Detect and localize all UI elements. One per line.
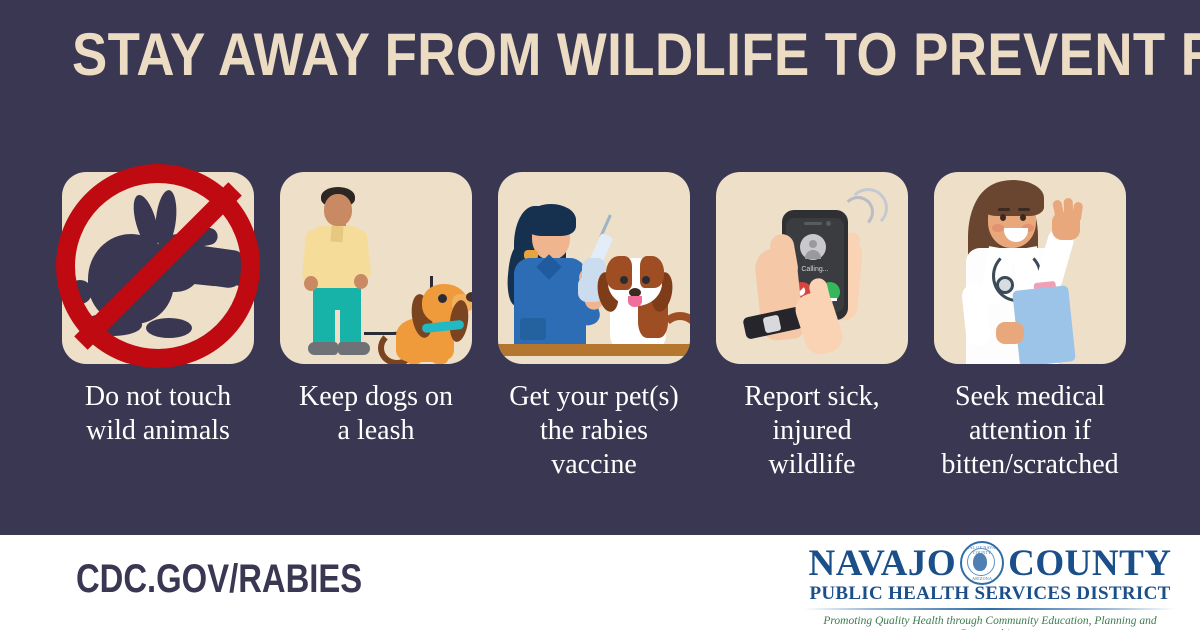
cdc-rabies-url[interactable]: CDC.GOV/RABIES <box>76 557 362 602</box>
logo-word-navajo: NAVAJO <box>809 545 957 582</box>
caption-line: injured <box>700 414 924 448</box>
prevention-steps-row: Calling... <box>0 172 1200 372</box>
logo-tagline: Promoting Quality Health through Communi… <box>800 615 1180 630</box>
caption-line: a leash <box>264 414 488 448</box>
man-walking-dog-on-leash-icon <box>280 172 472 364</box>
doctor-waving-hand <box>1052 212 1080 240</box>
man-shoe-right <box>338 342 370 355</box>
rabies-prevention-poster: STAY AWAY FROM WILDLIFE TO PREVENT RABIE… <box>0 0 1200 630</box>
phone-speaker <box>804 222 822 225</box>
step-card-seek-medical-attention <box>934 172 1126 364</box>
man-collar <box>330 226 343 243</box>
doctor-hand-holding-clipboard <box>996 322 1024 344</box>
exam-table <box>498 344 690 356</box>
veterinarian-vaccinating-dog-icon <box>498 172 690 364</box>
doctor-eye-right <box>1020 214 1026 221</box>
caption-keep-dogs-leashed: Keep dogs on a leash <box>264 380 488 448</box>
doctor-waving-with-clipboard-icon <box>934 172 1126 364</box>
doctor-cheek-left <box>992 224 1004 232</box>
caption-line: bitten/scratched <box>918 448 1142 482</box>
man-shoe-left <box>308 342 338 355</box>
step-card-rabies-vaccine <box>498 172 690 364</box>
doctor-hair-top <box>982 180 1044 216</box>
caption-do-not-touch: Do not touch wild animals <box>46 380 270 448</box>
logo-subtitle: PUBLIC HEALTH SERVICES DISTRICT <box>800 583 1180 605</box>
caption-line: Keep dogs on <box>264 380 488 414</box>
man-hand-left <box>304 276 318 291</box>
caption-line: wildlife <box>700 448 924 482</box>
prohibition-sign-icon <box>56 164 260 368</box>
puppy-eye-left <box>620 276 628 284</box>
puppy-tongue <box>628 296 642 307</box>
phone-camera <box>826 221 831 226</box>
caption-line: the rabies <box>482 414 706 448</box>
caption-line: Report sick, <box>700 380 924 414</box>
county-seal-icon: SEAL OF NAVAJO COUNTY ARIZONA <box>960 541 1004 585</box>
doctor-eye-left <box>1000 214 1006 221</box>
logo-wordmark: NAVAJO SEAL OF NAVAJO COUNTY ARIZONA COU… <box>800 543 1180 583</box>
logo-divider <box>804 608 1176 610</box>
logo-word-county: COUNTY <box>1008 545 1171 582</box>
step-card-do-not-touch <box>62 172 254 364</box>
vet-hair-top <box>526 204 576 236</box>
wristwatch-face <box>763 315 782 334</box>
dog-nose <box>466 292 472 302</box>
seal-bottom-text: ARIZONA <box>962 576 1002 581</box>
navajo-county-logo: NAVAJO SEAL OF NAVAJO COUNTY ARIZONA COU… <box>800 543 1180 625</box>
step-card-report-wildlife: Calling... <box>716 172 908 364</box>
caption-line: vaccine <box>482 448 706 482</box>
caption-line: attention if <box>918 414 1142 448</box>
caption-line: wild animals <box>46 414 270 448</box>
doctor-eyebrow-left <box>998 208 1010 211</box>
dog-leg-right <box>432 350 448 364</box>
vet-pocket <box>520 318 546 340</box>
caption-rabies-vaccine: Get your pet(s) the rabies vaccine <box>482 380 706 482</box>
hands-calling-on-phone-icon: Calling... <box>716 172 908 364</box>
doctor-eyebrow-right <box>1018 208 1030 211</box>
footer-bar: CDC.GOV/RABIES NAVAJO SEAL OF NAVAJO COU… <box>0 535 1200 630</box>
caption-report-wildlife: Report sick, injured wildlife <box>700 380 924 482</box>
man-hand-right <box>354 274 368 289</box>
stethoscope-chestpiece <box>996 276 1014 294</box>
caption-line: Do not touch <box>46 380 270 414</box>
puppy-head-patch-left <box>606 256 632 290</box>
dog-eye <box>438 294 447 303</box>
puppy-eye-right <box>642 276 650 284</box>
page-title: STAY AWAY FROM WILDLIFE TO PREVENT RABIE… <box>72 24 1128 86</box>
caption-line: Seek medical <box>918 380 1142 414</box>
caption-seek-medical-attention: Seek medical attention if bitten/scratch… <box>918 380 1142 482</box>
caption-line: Get your pet(s) <box>482 380 706 414</box>
step-card-keep-dogs-leashed <box>280 172 472 364</box>
dog-leg-left <box>406 350 422 364</box>
caller-avatar-body <box>805 250 821 259</box>
seal-figure <box>973 553 987 571</box>
caller-avatar-head <box>809 240 817 248</box>
